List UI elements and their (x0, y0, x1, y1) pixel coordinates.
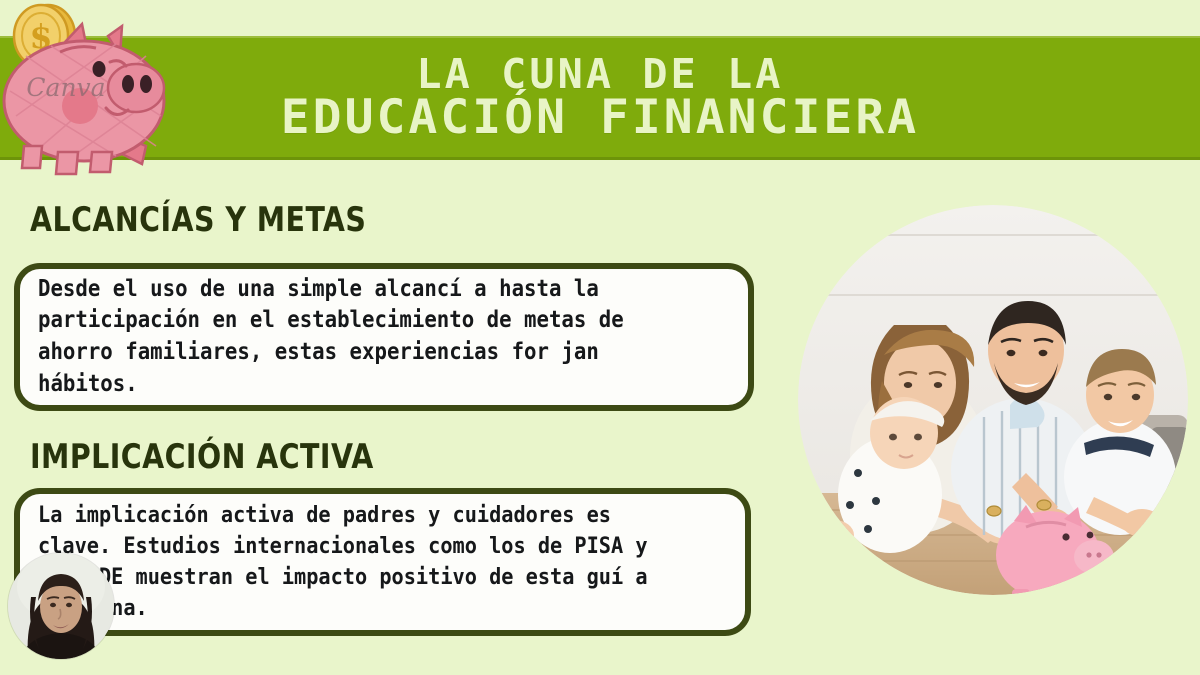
family-saving-photo (798, 205, 1188, 595)
piggy-bank-logo-icon: $ (0, 0, 186, 181)
logo-watermark: Canva (26, 73, 105, 102)
text-box-implicacion: La implicación activa de padres y cuidad… (14, 488, 751, 636)
presentation-slide: LA CUNA DE LA EDUCACIÓN FINANCIERA $ (0, 0, 1200, 675)
title-line-1: LA CUNA DE LA (281, 54, 919, 94)
main-content: ALCANCÍAS Y METAS Desde el uso de una si… (0, 160, 790, 675)
section-heading-implicacion: IMPLICACIÓN ACTIVA (30, 437, 374, 477)
page-title: LA CUNA DE LA EDUCACIÓN FINANCIERA (281, 54, 919, 140)
text-box-alcancias-body: Desde el uso de una simple alcancí a has… (20, 274, 675, 401)
title-line-2: EDUCACIÓN FINANCIERA (281, 95, 919, 141)
text-box-implicacion-body: La implicación activa de padres y cuidad… (20, 500, 673, 624)
section-heading-alcancias: ALCANCÍAS Y METAS (30, 200, 366, 240)
text-box-alcancias: Desde el uso de una simple alcancí a has… (14, 263, 754, 411)
presenter-webcam[interactable] (8, 553, 114, 659)
